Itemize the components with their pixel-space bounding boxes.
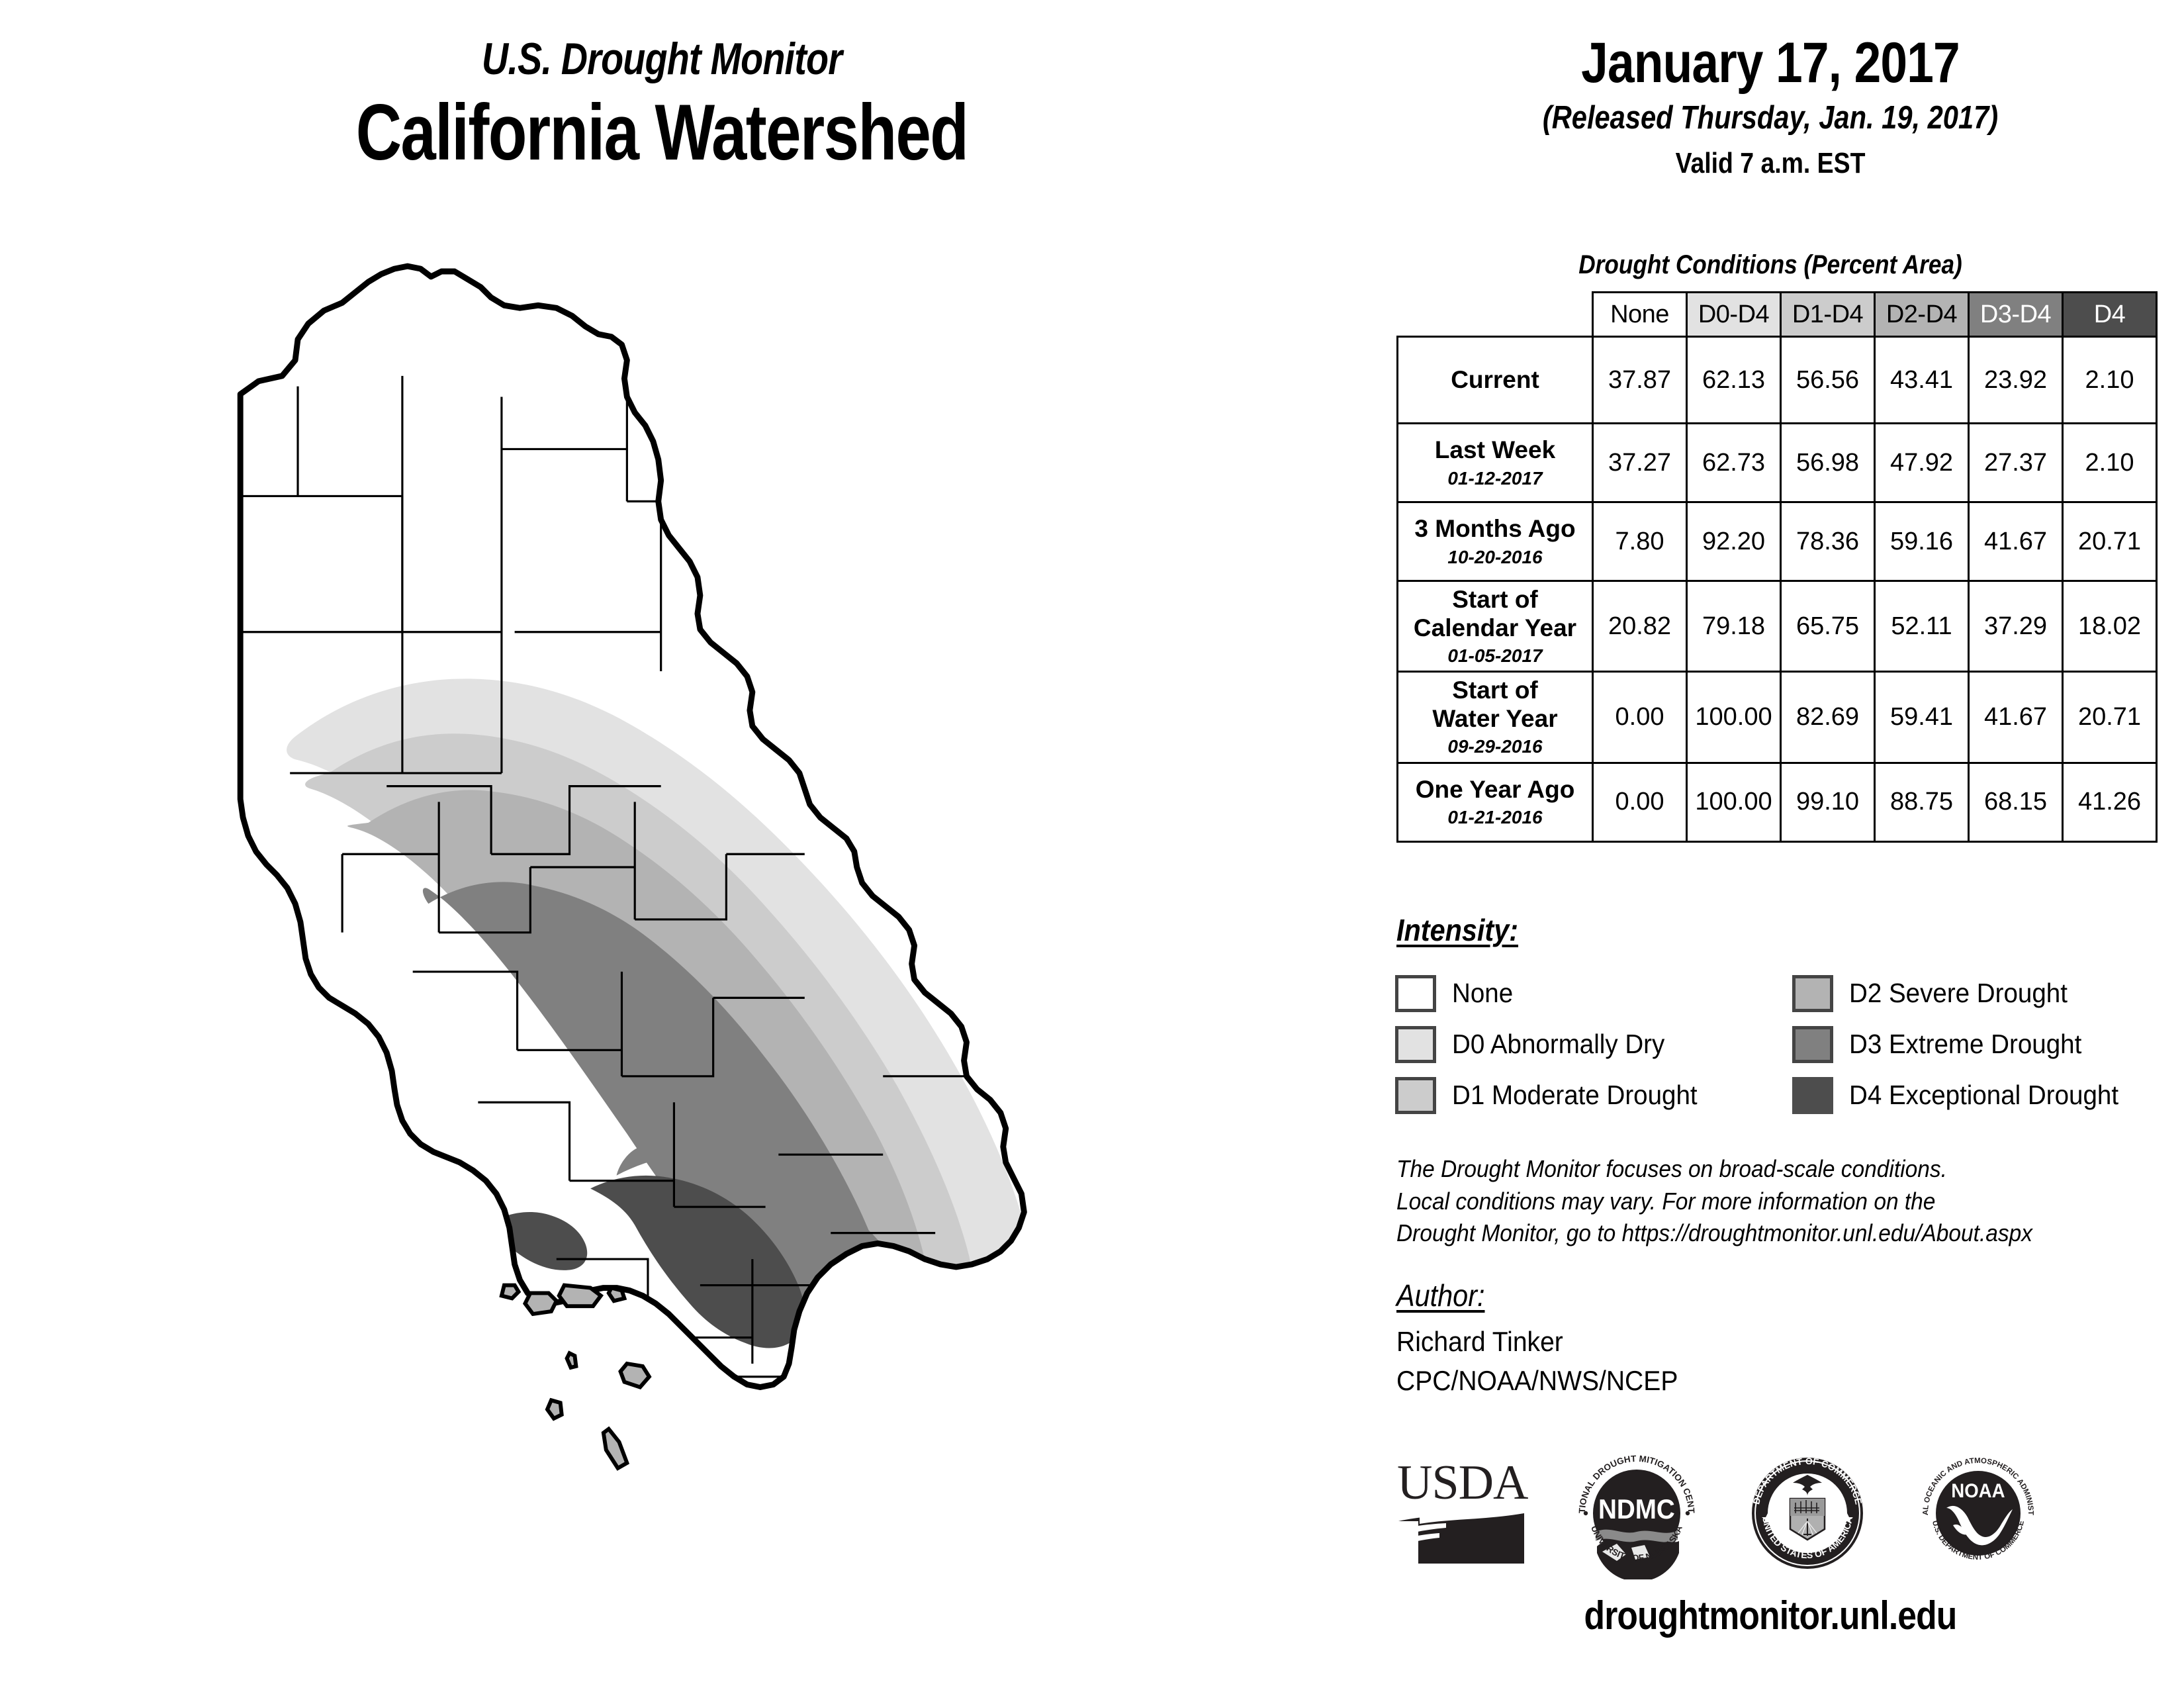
col-header-d3-d4: D3-D4: [1969, 293, 2063, 337]
row-date: 10-20-2016: [1401, 547, 1589, 568]
row-label: One Year Ago01-21-2016: [1398, 763, 1593, 841]
date-block: January 17, 2017 (Released Thursday, Jan…: [1357, 33, 2184, 180]
legend-label-d2: D2 Severe Drought: [1849, 978, 2068, 1009]
row-date: 09-29-2016: [1401, 736, 1589, 757]
page-title: California Watershed: [132, 91, 1191, 174]
legend-item-d1: D1 Moderate Drought: [1395, 1077, 1792, 1114]
swatch-d1-icon: [1395, 1077, 1436, 1114]
table-cell: 2.10: [2063, 424, 2157, 502]
disclaimer-line-2: Local conditions may vary. For more info…: [1396, 1186, 2129, 1218]
info-panel: January 17, 2017 (Released Thursday, Jan…: [1357, 0, 2184, 1688]
legend-label-d0: D0 Abnormally Dry: [1452, 1029, 1664, 1060]
swatch-d0-icon: [1395, 1026, 1436, 1063]
table-row: Start ofWater Year09-29-20160.00100.0082…: [1398, 672, 2157, 763]
col-header-d2-d4: D2-D4: [1875, 293, 1969, 337]
table-cell: 41.67: [1969, 502, 2063, 581]
drought-monitor-page: U.S. Drought Monitor California Watershe…: [0, 0, 2184, 1688]
table-cell: 37.29: [1969, 581, 2063, 672]
table-cell: 37.27: [1593, 424, 1687, 502]
table-cell: 2.10: [2063, 337, 2157, 424]
valid-time: Valid 7 a.m. EST: [1419, 147, 2122, 180]
noaa-logo: NOAA NATIONAL OCEANIC AND ATMOSPHERIC AD…: [1912, 1447, 2044, 1583]
row-date: 01-05-2017: [1401, 645, 1589, 667]
table-cell: 62.13: [1687, 337, 1781, 424]
table-caption: Drought Conditions (Percent Area): [1406, 250, 2134, 280]
table-cell: 92.20: [1687, 502, 1781, 581]
intensity-legend: None D2 Severe Drought D0 Abnormally Dry…: [1395, 968, 2184, 1121]
table-cell: 79.18: [1687, 581, 1781, 672]
table-cell: 27.37: [1969, 424, 2063, 502]
title-block: U.S. Drought Monitor California Watershe…: [0, 36, 1324, 174]
table-cell: 43.41: [1875, 337, 1969, 424]
table-cell: 68.15: [1969, 763, 2063, 841]
table-cell: 18.02: [2063, 581, 2157, 672]
ndmc-logo: NDMC NATIONAL DROUGHT MITIGATION CENTER …: [1570, 1447, 1703, 1583]
table-cell: 47.92: [1875, 424, 1969, 502]
row-label: 3 Months Ago10-20-2016: [1398, 502, 1593, 581]
table-row: Start ofCalendar Year01-05-201720.8279.1…: [1398, 581, 2157, 672]
svg-text:USDA: USDA: [1397, 1456, 1528, 1510]
table-cell: 0.00: [1593, 672, 1687, 763]
swatch-none-icon: [1395, 975, 1436, 1012]
table-cell: 99.10: [1781, 763, 1875, 841]
usda-logo: USDA: [1393, 1447, 1532, 1583]
table-cell: 59.41: [1875, 672, 1969, 763]
table-cell: 59.16: [1875, 502, 1969, 581]
col-header-d1-d4: D1-D4: [1781, 293, 1875, 337]
col-header-d0-d4: D0-D4: [1687, 293, 1781, 337]
legend-label-d4: D4 Exceptional Drought: [1849, 1080, 2118, 1111]
row-label: Current: [1398, 337, 1593, 424]
table-cell: 37.87: [1593, 337, 1687, 424]
table-cell: 88.75: [1875, 763, 1969, 841]
legend-label-none: None: [1452, 978, 1513, 1009]
table-cell: 41.67: [1969, 672, 2063, 763]
swatch-d3-icon: [1792, 1026, 1833, 1063]
table-cell: 20.71: [2063, 502, 2157, 581]
table-cell: 62.73: [1687, 424, 1781, 502]
legend-item-none: None: [1395, 975, 1792, 1012]
col-header-d4: D4: [2063, 293, 2157, 337]
table-cell: 41.26: [2063, 763, 2157, 841]
legend-item-d3: D3 Extreme Drought: [1792, 1026, 2184, 1063]
author-org: CPC/NOAA/NWS/NCEP: [1396, 1365, 1678, 1397]
table-row: One Year Ago01-21-20160.00100.0099.1088.…: [1398, 763, 2157, 841]
table-cell: 20.82: [1593, 581, 1687, 672]
disclaimer-line-3: Drought Monitor, go to https://droughtmo…: [1396, 1217, 2129, 1250]
table-cell: 56.56: [1781, 337, 1875, 424]
disclaimer-line-1: The Drought Monitor focuses on broad-sca…: [1396, 1153, 2129, 1186]
legend-label-d1: D1 Moderate Drought: [1452, 1080, 1698, 1111]
legend-item-d0: D0 Abnormally Dry: [1395, 1026, 1792, 1063]
svg-text:NOAA: NOAA: [1951, 1479, 2005, 1501]
svg-text:NDMC: NDMC: [1598, 1493, 1675, 1524]
table-cell: 7.80: [1593, 502, 1687, 581]
row-date: 01-21-2016: [1401, 807, 1589, 828]
valid-date: January 17, 2017: [1419, 33, 2122, 93]
table-cell: 0.00: [1593, 763, 1687, 841]
release-date: (Released Thursday, Jan. 19, 2017): [1419, 101, 2122, 136]
col-header-none: None: [1593, 293, 1687, 337]
california-watershed-map[interactable]: [99, 238, 1092, 1496]
table-cell: 56.98: [1781, 424, 1875, 502]
author-heading: Author:: [1396, 1278, 1484, 1313]
swatch-d2-icon: [1792, 975, 1833, 1012]
row-label: Start ofCalendar Year01-05-2017: [1398, 581, 1593, 672]
table-cell: 65.75: [1781, 581, 1875, 672]
table-cell: 100.00: [1687, 672, 1781, 763]
intensity-heading: Intensity:: [1396, 912, 1518, 948]
table-cell: 100.00: [1687, 763, 1781, 841]
table-body: Current37.8762.1356.5643.4123.922.10Last…: [1398, 337, 2157, 842]
table-cell: 20.71: [2063, 672, 2157, 763]
swatch-d4-icon: [1792, 1077, 1833, 1114]
row-date: 01-12-2017: [1401, 468, 1589, 489]
table-header-row: None D0-D4 D1-D4 D2-D4 D3-D4 D4: [1398, 293, 2157, 337]
legend-item-d4: D4 Exceptional Drought: [1792, 1077, 2184, 1114]
logo-row: USDA NDMC: [1393, 1435, 2181, 1594]
legend-label-d3: D3 Extreme Drought: [1849, 1029, 2081, 1060]
row-label: Start ofWater Year09-29-2016: [1398, 672, 1593, 763]
footer-url[interactable]: droughtmonitor.unl.edu: [1415, 1593, 2126, 1638]
table-corner-cell: [1398, 293, 1593, 337]
drought-conditions-table: None D0-D4 D1-D4 D2-D4 D3-D4 D4 Current3…: [1396, 291, 2158, 843]
table-cell: 23.92: [1969, 337, 2063, 424]
table-cell: 78.36: [1781, 502, 1875, 581]
page-subtitle: U.S. Drought Monitor: [119, 36, 1205, 81]
row-label: Last Week01-12-2017: [1398, 424, 1593, 502]
map-panel: U.S. Drought Monitor California Watershe…: [0, 0, 1357, 1688]
author-name: Richard Tinker: [1396, 1326, 1563, 1358]
legend-item-d2: D2 Severe Drought: [1792, 975, 2184, 1012]
doc-seal: DEPARTMENT OF COMMERCE UNITED STATES OF …: [1741, 1447, 1874, 1583]
disclaimer-text: The Drought Monitor focuses on broad-sca…: [1396, 1153, 2129, 1250]
table-cell: 52.11: [1875, 581, 1969, 672]
table-cell: 82.69: [1781, 672, 1875, 763]
table-row: Current37.8762.1356.5643.4123.922.10: [1398, 337, 2157, 424]
table-row: 3 Months Ago10-20-20167.8092.2078.3659.1…: [1398, 502, 2157, 581]
table-row: Last Week01-12-201737.2762.7356.9847.922…: [1398, 424, 2157, 502]
